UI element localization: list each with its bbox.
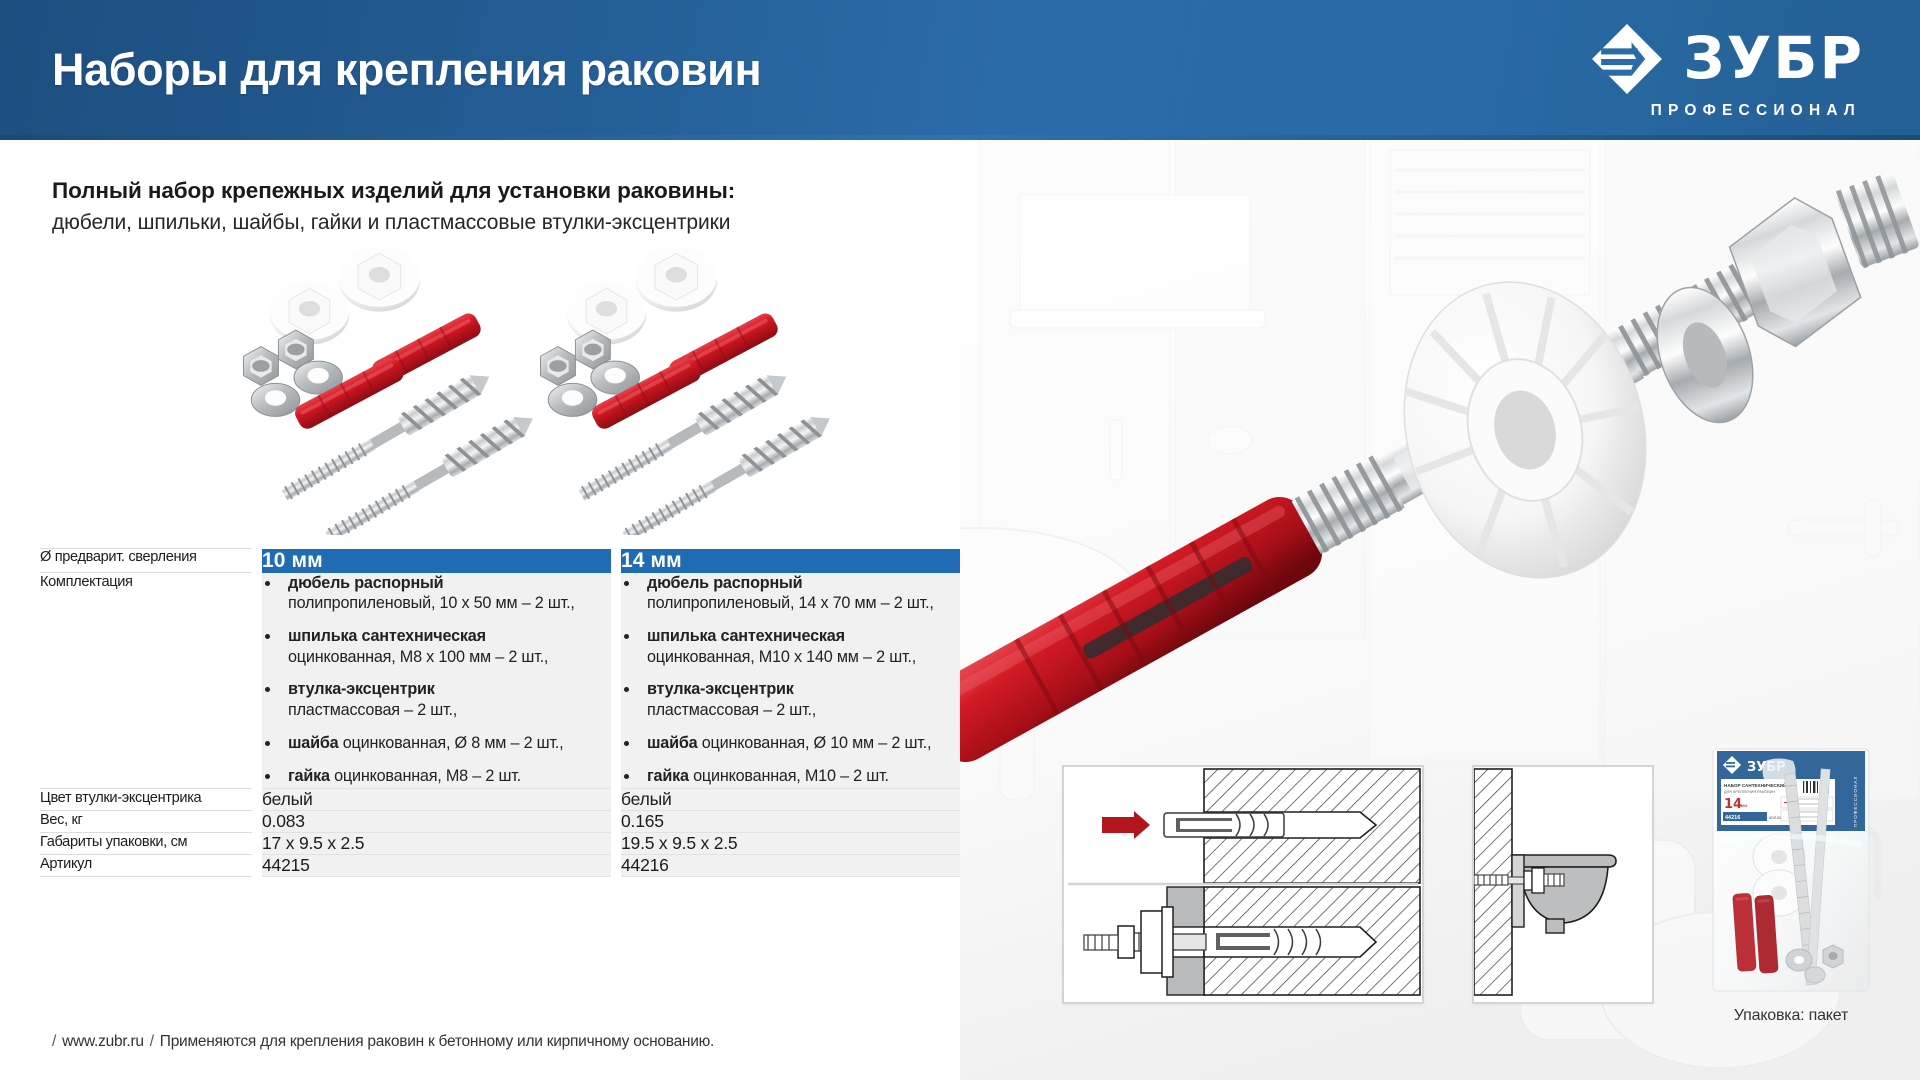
cell-dimensions-10mm: 17 x 9.5 x 2.5 bbox=[262, 833, 611, 855]
cell-weight-14mm: 0.165 bbox=[621, 811, 970, 833]
col-gap bbox=[611, 789, 621, 811]
cell-color-14mm: белый bbox=[621, 789, 970, 811]
brand-tagline: ПРОФЕССИОНАЛ bbox=[1651, 102, 1864, 120]
row-label-color: Цвет втулки-эксцентрика bbox=[40, 789, 252, 811]
kit-items-10mm: дюбель распорныйполипропиленовый, 10 x 5… bbox=[262, 573, 611, 787]
kit-item-name: шайба bbox=[647, 734, 697, 752]
package-caption: Упаковка: пакет bbox=[1656, 1007, 1920, 1025]
col-gap bbox=[611, 833, 621, 855]
kit-item-name: дюбель распорный bbox=[647, 574, 802, 592]
cell-weight-10mm: 0.083 bbox=[262, 811, 611, 833]
kit-item-name: втулка-эксцентрик bbox=[288, 680, 435, 698]
footer: /www.zubr.ru/Применяются для крепления р… bbox=[46, 1033, 714, 1051]
kit-item: шайба оцинкованная, Ø 8 мм – 2 шт., bbox=[262, 733, 611, 754]
table-header-row: Ø предварит. сверления 10 мм 14 мм bbox=[40, 549, 970, 573]
brand-logo: ЗУБР ПРОФЕССИОНАЛ bbox=[1589, 21, 1864, 120]
kit-items-14mm: дюбель распорныйполипропиленовый, 14 x 7… bbox=[621, 573, 970, 787]
kit-item-spec: полипропиленовый, 10 x 50 мм – 2 шт., bbox=[288, 593, 611, 614]
footer-note: Применяются для крепления раковин к бето… bbox=[160, 1033, 714, 1050]
brand-wordmark: ЗУБР bbox=[1683, 32, 1864, 85]
cell-article-10mm: 44215 bbox=[262, 855, 611, 877]
kit-item: шпилька сантехническаяоцинкованная, М10 … bbox=[621, 626, 970, 667]
footer-site-link[interactable]: www.zubr.ru bbox=[62, 1033, 144, 1050]
col-gap bbox=[611, 855, 621, 877]
cell-article-14mm: 44216 bbox=[621, 855, 970, 877]
kit-item-spec: пластмассовая – 2 шт., bbox=[288, 700, 611, 721]
col-gap bbox=[252, 855, 262, 877]
kit-item: шайба оцинкованная, Ø 10 мм – 2 шт., bbox=[621, 733, 970, 754]
table-row-dimensions: Габариты упаковки, см 17 x 9.5 x 2.5 19.… bbox=[40, 833, 970, 855]
diagram-panel-3 bbox=[1472, 765, 1654, 1004]
product-photo-kit-10mm bbox=[244, 247, 539, 535]
kit-item: гайка оцинкованная, М10 – 2 шт. bbox=[621, 766, 970, 787]
specification-table: Ø предварит. сверления 10 мм 14 мм Компл… bbox=[40, 548, 970, 877]
kit-item: гайка оцинкованная, М8 – 2 шт. bbox=[262, 766, 611, 787]
kit-item-spec: оцинкованная, М10 – 2 шт. bbox=[689, 767, 889, 785]
kit-item-name: гайка bbox=[647, 767, 689, 785]
kit-item: шпилька сантехническаяоцинкованная, М8 x… bbox=[262, 626, 611, 667]
col-gap bbox=[611, 549, 621, 573]
diagram-panel-1 bbox=[1062, 765, 1424, 1004]
kit-item-name: шпилька сантехническая bbox=[288, 627, 486, 645]
kit-item-spec: оцинкованная, М10 x 140 мм – 2 шт., bbox=[647, 647, 970, 668]
col-gap bbox=[252, 833, 262, 855]
kit-item-spec: оцинкованная, М8 – 2 шт. bbox=[330, 767, 521, 785]
row-label-dimensions: Габариты упаковки, см bbox=[40, 833, 252, 855]
kit-item-name: гайка bbox=[288, 767, 330, 785]
row-label-article: Артикул bbox=[40, 855, 252, 877]
page-title: Наборы для крепления раковин bbox=[52, 44, 761, 96]
kit-item-spec: оцинкованная, Ø 10 мм – 2 шт., bbox=[697, 734, 931, 752]
intro-block: Полный набор крепежных изделий для устан… bbox=[52, 178, 735, 235]
col-gap bbox=[252, 789, 262, 811]
product-photos bbox=[230, 235, 930, 535]
kit-item-spec: оцинкованная, Ø 8 мм – 2 шт., bbox=[338, 734, 563, 752]
column-header-10mm: 10 мм bbox=[262, 549, 611, 573]
product-photo-kit-14mm bbox=[541, 247, 836, 535]
kit-list-10mm: дюбель распорныйполипропиленовый, 10 x 5… bbox=[262, 573, 611, 789]
page-header: Наборы для крепления раковин ЗУБР ПРОФЕС… bbox=[0, 0, 1920, 140]
table-row-weight: Вес, кг 0.083 0.165 bbox=[40, 811, 970, 833]
package-photo: ЗУБР НАБОР САНТЕХНИЧЕСКИЙ ДЛЯ КРЕПЛЕНИЯ … bbox=[1707, 745, 1875, 995]
col-gap bbox=[611, 573, 621, 789]
cell-dimensions-14mm: 19.5 x 9.5 x 2.5 bbox=[621, 833, 970, 855]
datasheet-page: Наборы для крепления раковин ЗУБР ПРОФЕС… bbox=[0, 0, 1920, 1080]
kit-list-14mm: дюбель распорныйполипропиленовый, 14 x 7… bbox=[621, 573, 970, 789]
intro-line-2: дюбели, шпильки, шайбы, гайки и пластмас… bbox=[52, 211, 735, 235]
table-row-kit: Комплектация дюбель распорныйполипропиле… bbox=[40, 573, 970, 789]
kit-item: дюбель распорныйполипропиленовый, 10 x 5… bbox=[262, 573, 611, 614]
kit-item-spec: оцинкованная, М8 x 100 мм – 2 шт., bbox=[288, 647, 611, 668]
column-header-14mm: 14 мм bbox=[621, 549, 970, 573]
installation-diagrams bbox=[1062, 765, 1654, 1004]
footer-slash-1: / bbox=[46, 1033, 62, 1050]
col-gap bbox=[611, 811, 621, 833]
col-gap bbox=[252, 549, 262, 573]
kit-item-name: дюбель распорный bbox=[288, 574, 443, 592]
row-label-weight: Вес, кг bbox=[40, 811, 252, 833]
kit-item: дюбель распорныйполипропиленовый, 14 x 7… bbox=[621, 573, 970, 614]
zubr-arrow-logo-icon bbox=[1589, 21, 1665, 97]
kit-item-name: втулка-эксцентрик bbox=[647, 680, 794, 698]
footer-slash-2: / bbox=[144, 1033, 160, 1050]
col-gap bbox=[252, 811, 262, 833]
table-row-article: Артикул 44215 44216 bbox=[40, 855, 970, 877]
col-gap bbox=[252, 573, 262, 789]
kit-item-spec: полипропиленовый, 14 x 70 мм – 2 шт., bbox=[647, 593, 970, 614]
kit-item-spec: пластмассовая – 2 шт., bbox=[647, 700, 970, 721]
table-row-color: Цвет втулки-эксцентрика белый белый bbox=[40, 789, 970, 811]
row-label-kit: Комплектация bbox=[40, 573, 252, 789]
kit-item-name: шайба bbox=[288, 734, 338, 752]
table-header-label: Ø предварит. сверления bbox=[40, 549, 252, 573]
cell-color-10mm: белый bbox=[262, 789, 611, 811]
kit-item-name: шпилька сантехническая bbox=[647, 627, 845, 645]
kit-item: втулка-эксцентрикпластмассовая – 2 шт., bbox=[262, 679, 611, 720]
intro-line-1: Полный набор крепежных изделий для устан… bbox=[52, 178, 735, 204]
kit-item: втулка-эксцентрикпластмассовая – 2 шт., bbox=[621, 679, 970, 720]
